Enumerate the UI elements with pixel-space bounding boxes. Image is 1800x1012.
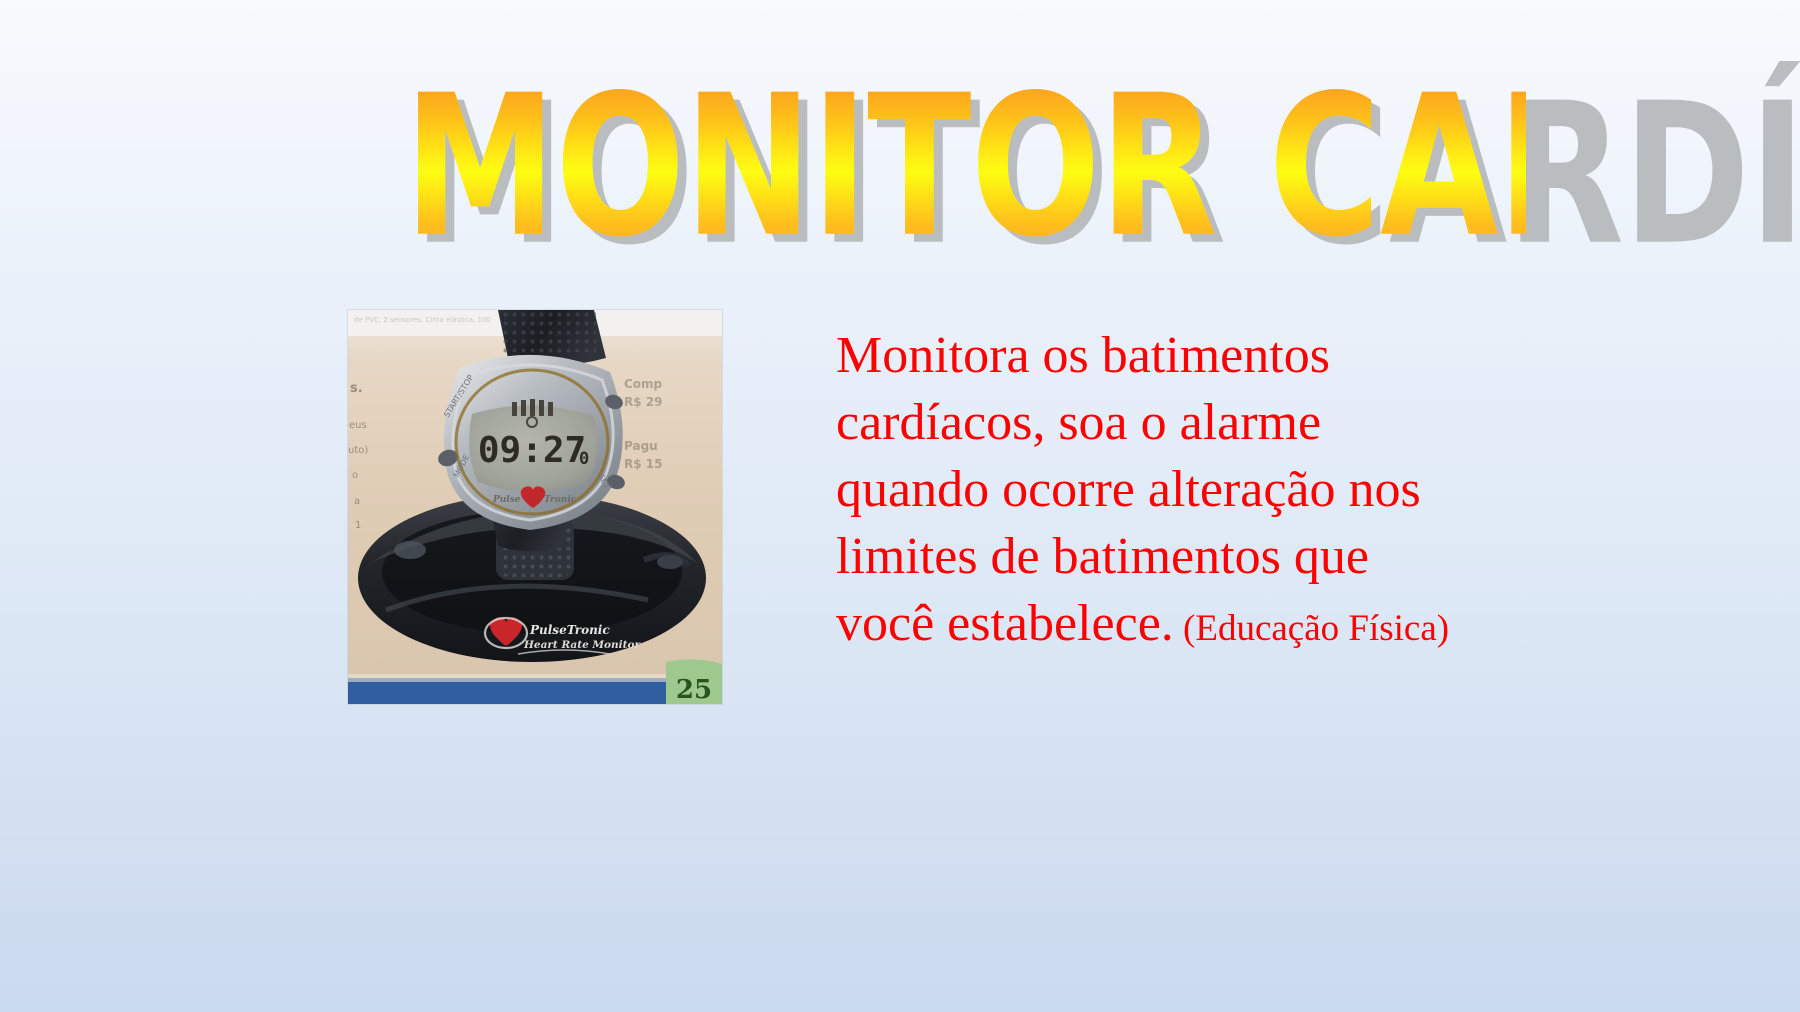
svg-text:eus: eus [349, 420, 367, 431]
heart-rate-monitor-photo: de PVC, 2 sensores, Cinta elástica, 100 … [348, 310, 722, 704]
svg-text:PulseTronic: PulseTronic [529, 623, 610, 637]
body-main-text: Monitora os batimentos cardíacos, soa o … [836, 327, 1421, 652]
svg-text:o: o [352, 470, 358, 481]
svg-text:R$ 15: R$ 15 [624, 457, 662, 471]
svg-text:Pagu: Pagu [624, 439, 658, 453]
watch-time-display: 09:27 [478, 430, 586, 471]
title-text: MONITOR CARDÍACO [404, 50, 1526, 284]
svg-text:1: 1 [355, 520, 361, 531]
photo-page-number: 25 [676, 675, 712, 704]
body-text: Monitora os batimentos cardíacos, soa o … [836, 322, 1476, 662]
svg-text:Comp: Comp [624, 377, 663, 391]
body-note-text: (Educação Física) [1174, 608, 1449, 649]
slide-canvas: MONITOR CARDÍACO MONITOR CARDÍACO [0, 0, 1800, 1012]
photo-illustration: de PVC, 2 sensores, Cinta elástica, 100 … [348, 310, 722, 704]
svg-text:0: 0 [579, 449, 589, 469]
svg-text:Tronic: Tronic [544, 495, 577, 505]
svg-text:uto): uto) [348, 445, 368, 456]
page-title: MONITOR CARDÍACO MONITOR CARDÍACO [404, 58, 1504, 238]
svg-text:de PVC, 2 sensores, Cinta elás: de PVC, 2 sensores, Cinta elástica, 100 [354, 316, 491, 324]
svg-text:a: a [354, 496, 360, 507]
svg-text:s.: s. [350, 381, 363, 396]
svg-text:Heart Rate Monitor: Heart Rate Monitor [523, 639, 642, 651]
svg-text:Pulse: Pulse [492, 495, 521, 505]
svg-text:R$ 29: R$ 29 [624, 395, 662, 409]
